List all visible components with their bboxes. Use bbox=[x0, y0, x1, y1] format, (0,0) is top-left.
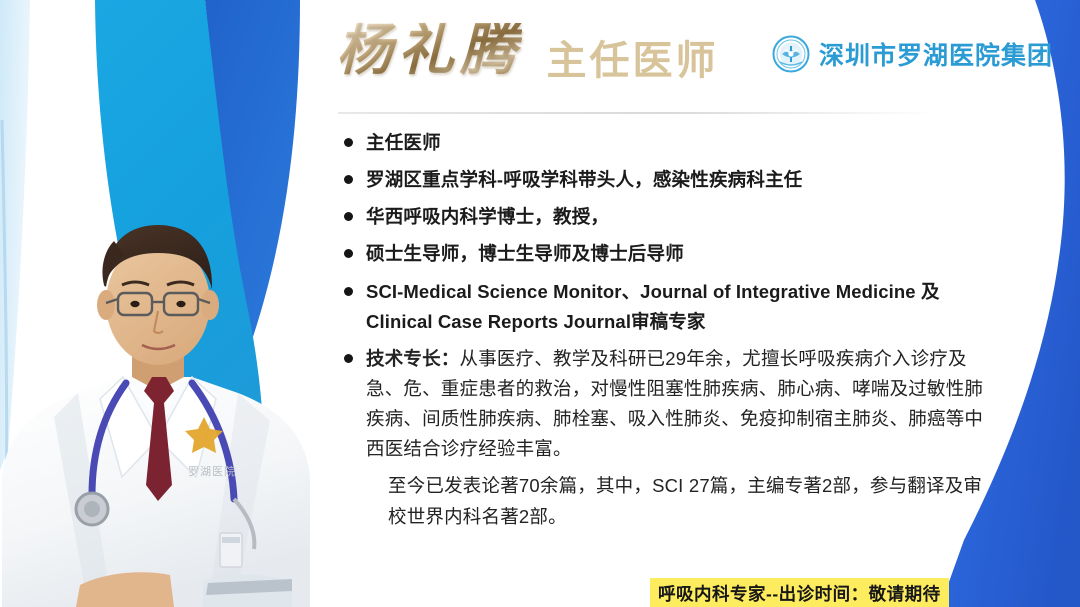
list-item: 技术专长：从事医疗、教学及科研已29年余，尤擅长呼吸疾病介入诊疗及急、危、重症患… bbox=[344, 344, 994, 465]
header-divider bbox=[338, 112, 938, 114]
bullet-dot-icon bbox=[344, 175, 353, 184]
list-item: 华西呼吸内科学博士，教授， bbox=[344, 202, 994, 232]
credential-text-specialty: 技术专长：从事医疗、教学及科研已29年余，尤擅长呼吸疾病介入诊疗及急、危、重症患… bbox=[366, 344, 994, 465]
list-item: 至今已发表论著70余篇，其中，SCI 27篇，主编专著2部，参与翻译及审校世界内… bbox=[344, 471, 994, 531]
clinic-schedule-banner: 呼吸内科专家--出诊时间：敬请期待 bbox=[650, 578, 949, 607]
bullet-dot-icon bbox=[344, 287, 353, 296]
bullet-dot-icon bbox=[344, 212, 353, 221]
list-item: 主任医师 bbox=[344, 128, 994, 158]
bullet-dot-placeholder-icon bbox=[344, 481, 353, 490]
credential-text: 罗湖区重点学科-呼吸学科带头人，感染性疾病科主任 bbox=[366, 165, 802, 195]
list-item: 硕士生导师，博士生导师及博士后导师 bbox=[344, 239, 994, 269]
credential-text: 硕士生导师，博士生导师及博士后导师 bbox=[366, 239, 684, 269]
doctor-role-title: 主任医师 bbox=[546, 28, 718, 86]
slide-canvas: 罗湖医院 杨礼腾 主任医师 bbox=[0, 0, 1080, 607]
doctor-name: 杨礼腾 bbox=[336, 23, 522, 79]
specialty-label: 技术专长： bbox=[366, 348, 460, 369]
hospital-name: 深圳市罗湖医院集团 bbox=[819, 36, 1053, 72]
bullet-dot-icon bbox=[344, 138, 353, 147]
svg-text:罗湖医院: 罗湖医院 bbox=[188, 464, 236, 478]
credential-text: 华西呼吸内科学博士，教授， bbox=[366, 202, 609, 232]
list-item: 罗湖区重点学科-呼吸学科带头人，感染性疾病科主任 bbox=[344, 165, 994, 195]
bullet-dot-icon bbox=[344, 354, 353, 363]
doctor-portrait: 罗湖医院 bbox=[0, 177, 322, 607]
credentials-list: 主任医师 罗湖区重点学科-呼吸学科带头人，感染性疾病科主任 华西呼吸内科学博士，… bbox=[344, 128, 994, 539]
hospital-emblem-icon bbox=[772, 35, 810, 73]
specialty-body: 从事医疗、教学及科研已29年余，尤擅长呼吸疾病介入诊疗及急、危、重症患者的救治，… bbox=[366, 348, 983, 459]
bullet-dot-icon bbox=[344, 249, 353, 258]
credential-text-journals: SCI-Medical Science Monitor、Journal of I… bbox=[366, 277, 994, 337]
publications-text: 至今已发表论著70余篇，其中，SCI 27篇，主编专著2部，参与翻译及审校世界内… bbox=[388, 471, 994, 531]
doctor-portrait-svg: 罗湖医院 bbox=[0, 177, 322, 607]
list-item: SCI-Medical Science Monitor、Journal of I… bbox=[344, 277, 994, 337]
credential-text: 主任医师 bbox=[366, 128, 441, 158]
hospital-logo: 深圳市罗湖医院集团 bbox=[772, 35, 1053, 73]
